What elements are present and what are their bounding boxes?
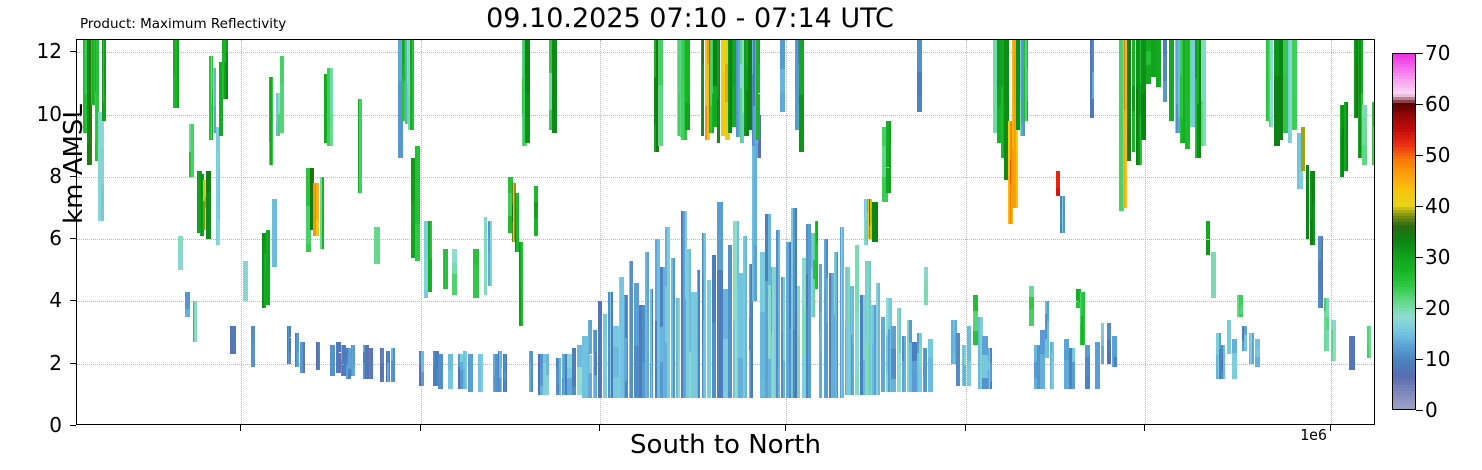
- reflectivity-column: [381, 363, 383, 378]
- plot-area: [76, 39, 1375, 425]
- reflectivity-column: [389, 351, 391, 382]
- reflectivity-column: [280, 56, 284, 84]
- reflectivity-column: [891, 349, 895, 379]
- colorbar-tick-mark-10: [1416, 359, 1423, 360]
- reflectivity-column: [525, 93, 529, 143]
- reflectivity-column: [904, 347, 906, 368]
- reflectivity-column: [1349, 336, 1355, 370]
- reflectivity-column: [330, 68, 333, 114]
- reflectivity-column: [1114, 346, 1116, 358]
- reflectivity-column: [438, 354, 443, 388]
- colorbar-tick-mark-20: [1416, 308, 1423, 309]
- reflectivity-column: [1299, 168, 1302, 190]
- reflectivity-column: [751, 352, 753, 398]
- reflectivity-column: [531, 384, 533, 392]
- reflectivity-column: [917, 94, 921, 111]
- reflectivity-column: [1244, 335, 1246, 347]
- reflectivity-column: [1252, 333, 1254, 364]
- reflectivity-column: [1101, 323, 1105, 337]
- reflectivity-column: [353, 364, 355, 376]
- reflectivity-column: [799, 95, 804, 152]
- reflectivity-column: [1085, 357, 1090, 375]
- reflectivity-column: [919, 333, 921, 346]
- reflectivity-column: [1127, 40, 1131, 84]
- reflectivity-column: [448, 370, 453, 377]
- reflectivity-column: [816, 221, 818, 244]
- reflectivity-column: [1114, 357, 1116, 366]
- reflectivity-column: [652, 359, 654, 398]
- reflectivity-column: [226, 40, 228, 53]
- reflectivity-column: [783, 308, 785, 361]
- reflectivity-column: [855, 376, 859, 395]
- x-axis-offset-label: 1e6: [1300, 427, 1380, 444]
- reflectivity-column: [226, 76, 228, 99]
- reflectivity-column: [728, 245, 732, 398]
- reflectivity-column: [1027, 68, 1029, 101]
- reflectivity-column: [1240, 295, 1242, 305]
- colorbar-band: [1393, 53, 1415, 55]
- colorbar-tick-label-20: 20: [1425, 298, 1450, 318]
- reflectivity-column: [430, 259, 432, 292]
- reflectivity-column: [195, 301, 197, 341]
- reflectivity-column: [421, 351, 424, 372]
- reflectivity-column: [924, 285, 928, 304]
- reflectivity-column: [712, 255, 716, 323]
- colorbar-axis: 010203040506070: [1416, 53, 1482, 410]
- y-tick-label-8: 8: [2, 166, 62, 186]
- reflectivity-column: [1306, 165, 1310, 240]
- reflectivity-column: [855, 313, 859, 376]
- reflectivity-column: [412, 40, 414, 130]
- reflectivity-column: [490, 221, 492, 239]
- reflectivity-column: [1085, 375, 1090, 388]
- reflectivity-column: [1255, 339, 1260, 349]
- reflectivity-column: [967, 326, 971, 360]
- reflectivity-column: [1064, 360, 1069, 388]
- reflectivity-column: [647, 353, 650, 398]
- reflectivity-column: [1056, 188, 1060, 196]
- reflectivity-column: [783, 361, 785, 398]
- reflectivity-column: [1107, 323, 1111, 340]
- reflectivity-column: [780, 69, 786, 93]
- reflectivity-column: [1313, 203, 1315, 245]
- reflectivity-column: [912, 361, 916, 373]
- reflectivity-column: [546, 354, 549, 374]
- reflectivity-column: [1146, 40, 1151, 51]
- colorbar-tick-label-30: 30: [1425, 247, 1450, 267]
- reflectivity-column: [990, 348, 992, 363]
- reflectivity-column: [178, 249, 183, 270]
- reflectivity-column: [1232, 339, 1237, 353]
- reflectivity-column: [678, 298, 680, 357]
- colorbar-tick-mark-40: [1416, 206, 1423, 207]
- colorbar-tick-mark-70: [1416, 53, 1423, 54]
- reflectivity-column: [1029, 297, 1034, 309]
- y-tick-label-6: 6: [2, 228, 62, 248]
- reflectivity-column: [1333, 320, 1336, 344]
- reflectivity-column: [881, 317, 885, 347]
- reflectivity-column: [1047, 301, 1049, 321]
- reflectivity-column: [521, 300, 523, 327]
- reflectivity-column: [1362, 105, 1367, 118]
- reflectivity-column: [330, 345, 335, 376]
- reflectivity-column: [490, 263, 492, 286]
- colorbar-tick-label-70: 70: [1425, 43, 1450, 63]
- reflectivity-column: [603, 337, 607, 354]
- reflectivity-column: [745, 236, 747, 398]
- colorbar: [1392, 53, 1416, 410]
- reflectivity-column: [206, 171, 210, 193]
- reflectivity-column: [552, 40, 556, 133]
- reflectivity-column: [754, 246, 756, 302]
- reflectivity-column: [1114, 336, 1116, 346]
- product-label: Product: Maximum Reflectivity: [80, 16, 286, 32]
- reflectivity-column: [572, 365, 577, 386]
- reflectivity-column: [1072, 362, 1075, 389]
- reflectivity-column: [1301, 127, 1305, 171]
- reflectivity-column: [1346, 102, 1348, 170]
- reflectivity-column: [191, 124, 194, 177]
- reflectivity-column: [924, 278, 928, 286]
- reflectivity-column: [723, 289, 728, 339]
- reflectivity-column: [226, 53, 228, 76]
- reflectivity-column: [1052, 342, 1054, 362]
- reflectivity-column: [678, 357, 680, 398]
- reflectivity-column: [531, 365, 533, 384]
- reflectivity-column: [1361, 40, 1363, 93]
- reflectivity-column: [778, 230, 780, 398]
- reflectivity-column: [634, 346, 639, 398]
- reflectivity-column: [381, 348, 383, 363]
- reflectivity-column: [1092, 40, 1094, 72]
- reflectivity-column: [891, 379, 895, 392]
- reflectivity-column: [1064, 339, 1069, 350]
- reflectivity-column: [1240, 305, 1242, 314]
- radar-cross-section-figure: 09.10.2025 07:10 - 07:14 UTC Product: Ma…: [0, 0, 1482, 470]
- reflectivity-column: [371, 364, 373, 379]
- reflectivity-column: [1127, 125, 1131, 161]
- reflectivity-column: [758, 65, 760, 93]
- reflectivity-column: [702, 64, 704, 87]
- reflectivity-column: [647, 316, 650, 353]
- reflectivity-column: [990, 363, 992, 382]
- reflectivity-column: [289, 353, 291, 363]
- reflectivity-column: [1141, 94, 1146, 139]
- reflectivity-column: [473, 249, 479, 265]
- reflectivity-column: [634, 283, 639, 347]
- reflectivity-columns: [77, 40, 1374, 424]
- colorbar-tick-mark-30: [1416, 257, 1423, 258]
- reflectivity-column: [516, 210, 518, 235]
- reflectivity-column: [1211, 252, 1216, 299]
- reflectivity-column: [589, 320, 591, 354]
- reflectivity-column: [589, 373, 591, 398]
- reflectivity-column: [365, 359, 368, 379]
- reflectivity-column: [799, 40, 804, 95]
- reflectivity-column: [594, 375, 596, 398]
- reflectivity-column: [928, 358, 933, 392]
- colorbar-tick-label-50: 50: [1425, 145, 1450, 165]
- reflectivity-column: [1369, 326, 1371, 357]
- reflectivity-column: [1362, 145, 1367, 164]
- reflectivity-column: [415, 146, 420, 224]
- reflectivity-column: [1101, 346, 1105, 364]
- reflectivity-column: [1326, 330, 1329, 352]
- reflectivity-column: [1146, 65, 1151, 84]
- reflectivity-column: [381, 378, 383, 383]
- reflectivity-column: [797, 286, 801, 338]
- reflectivity-column: [707, 351, 711, 398]
- reflectivity-column: [448, 354, 453, 369]
- reflectivity-column: [365, 345, 368, 359]
- reflectivity-column: [371, 348, 373, 364]
- reflectivity-column: [501, 351, 503, 367]
- reflectivity-column: [303, 342, 306, 373]
- reflectivity-column: [917, 40, 921, 72]
- reflectivity-column: [218, 219, 220, 246]
- reflectivity-column: [465, 351, 467, 388]
- reflectivity-column: [316, 219, 318, 236]
- reflectivity-column: [1132, 111, 1136, 152]
- reflectivity-column: [214, 85, 216, 106]
- reflectivity-column: [891, 326, 895, 348]
- reflectivity-column: [1029, 309, 1034, 327]
- reflectivity-column: [468, 354, 473, 391]
- reflectivity-column: [319, 342, 321, 370]
- reflectivity-column: [330, 114, 333, 146]
- reflectivity-column: [881, 347, 885, 392]
- reflectivity-column: [490, 239, 492, 263]
- reflectivity-column: [1255, 357, 1260, 367]
- reflectivity-column: [359, 99, 361, 192]
- reflectivity-column: [1101, 337, 1105, 346]
- reflectivity-column: [712, 322, 716, 398]
- reflectivity-column: [1362, 118, 1367, 145]
- reflectivity-column: [1027, 101, 1029, 121]
- reflectivity-column: [904, 336, 906, 347]
- reflectivity-column: [501, 377, 503, 392]
- reflectivity-column: [758, 40, 760, 65]
- reflectivity-column: [1163, 55, 1167, 81]
- reflectivity-column: [647, 252, 650, 316]
- reflectivity-column: [1169, 86, 1173, 121]
- reflectivity-column: [1064, 350, 1069, 361]
- reflectivity-column: [289, 338, 291, 354]
- reflectivity-column: [1029, 286, 1034, 297]
- reflectivity-column: [928, 339, 933, 358]
- reflectivity-column: [594, 330, 596, 352]
- reflectivity-column: [266, 230, 270, 305]
- reflectivity-column: [1326, 298, 1329, 317]
- reflectivity-column: [452, 249, 456, 264]
- y-tick-mark-12: [70, 51, 76, 52]
- reflectivity-column: [912, 342, 916, 361]
- reflectivity-column: [1206, 240, 1210, 255]
- reflectivity-column: [909, 320, 912, 343]
- reflectivity-column: [1146, 51, 1151, 65]
- reflectivity-column: [1232, 353, 1237, 379]
- reflectivity-column: [251, 343, 255, 367]
- reflectivity-column: [917, 72, 921, 95]
- colorbar-tick-label-0: 0: [1425, 400, 1438, 420]
- reflectivity-column: [297, 333, 299, 351]
- reflectivity-column: [783, 277, 785, 308]
- reflectivity-column: [707, 280, 711, 352]
- reflectivity-column: [924, 267, 928, 278]
- reflectivity-column: [374, 227, 379, 264]
- y-tick-label-2: 2: [2, 353, 62, 373]
- reflectivity-column: [1244, 326, 1246, 335]
- reflectivity-column: [658, 40, 663, 85]
- reflectivity-column: [473, 265, 479, 299]
- reflectivity-column: [104, 94, 106, 121]
- reflectivity-column: [452, 274, 456, 296]
- reflectivity-column: [1255, 349, 1260, 357]
- reflectivity-column: [685, 40, 690, 103]
- reflectivity-column: [658, 85, 663, 146]
- reflectivity-column: [816, 244, 818, 265]
- reflectivity-column: [973, 295, 978, 311]
- reflectivity-column: [534, 218, 538, 236]
- reflectivity-column: [652, 315, 654, 359]
- reflectivity-column: [780, 93, 786, 112]
- reflectivity-column: [820, 264, 822, 311]
- reflectivity-column: [751, 294, 753, 352]
- reflectivity-column: [1127, 84, 1131, 125]
- reflectivity-column: [289, 326, 291, 337]
- reflectivity-column: [185, 309, 190, 317]
- reflectivity-column: [924, 348, 926, 392]
- reflectivity-column: [1132, 86, 1136, 111]
- reflectivity-column: [1092, 72, 1094, 99]
- y-tick-label-12: 12: [2, 41, 62, 61]
- reflectivity-column: [443, 249, 448, 270]
- reflectivity-column: [96, 40, 98, 95]
- reflectivity-column: [501, 367, 503, 377]
- reflectivity-column: [1107, 353, 1111, 364]
- reflectivity-column: [967, 361, 971, 386]
- reflectivity-column: [233, 341, 236, 354]
- reflectivity-column: [1203, 40, 1206, 146]
- reflectivity-column: [534, 202, 538, 218]
- reflectivity-column: [1083, 292, 1085, 345]
- reflectivity-column: [1244, 347, 1246, 352]
- reflectivity-column: [852, 343, 854, 395]
- reflectivity-column: [185, 292, 190, 309]
- reflectivity-column: [272, 77, 274, 164]
- reflectivity-column: [603, 353, 607, 398]
- reflectivity-column: [704, 233, 706, 398]
- reflectivity-column: [1169, 40, 1173, 86]
- reflectivity-column: [820, 351, 822, 398]
- reflectivity-column: [572, 386, 577, 395]
- reflectivity-column: [702, 40, 704, 64]
- reflectivity-column: [322, 177, 324, 249]
- reflectivity-column: [820, 311, 822, 351]
- reflectivity-column: [717, 202, 722, 270]
- colorbar-tick-mark-50: [1416, 155, 1423, 156]
- y-tick-label-0: 0: [2, 415, 62, 435]
- reflectivity-column: [698, 270, 700, 398]
- reflectivity-column: [306, 244, 311, 252]
- reflectivity-column: [1321, 236, 1323, 308]
- reflectivity-column: [797, 338, 801, 398]
- reflectivity-column: [525, 40, 529, 93]
- reflectivity-column: [1333, 344, 1336, 361]
- reflectivity-column: [904, 368, 906, 392]
- reflectivity-column: [1132, 40, 1136, 86]
- reflectivity-column: [685, 103, 690, 131]
- reflectivity-column: [316, 200, 318, 219]
- reflectivity-column: [534, 186, 538, 202]
- reflectivity-column: [990, 382, 992, 389]
- reflectivity-column: [956, 333, 960, 386]
- reflectivity-column: [603, 314, 607, 337]
- reflectivity-column: [1027, 40, 1029, 68]
- reflectivity-column: [889, 121, 892, 193]
- reflectivity-column: [531, 351, 533, 365]
- reflectivity-column: [1063, 196, 1065, 233]
- reflectivity-column: [1206, 221, 1210, 240]
- reflectivity-column: [297, 351, 299, 367]
- colorbar-tick-label-60: 60: [1425, 94, 1450, 114]
- reflectivity-column: [421, 372, 424, 385]
- reflectivity-column: [521, 242, 523, 299]
- reflectivity-column: [1227, 320, 1232, 354]
- reflectivity-column: [177, 40, 179, 108]
- reflectivity-column: [1092, 99, 1094, 117]
- reflectivity-column: [251, 326, 255, 342]
- reflectivity-column: [1047, 321, 1049, 357]
- reflectivity-column: [1292, 40, 1297, 130]
- reflectivity-column: [214, 68, 216, 84]
- reflectivity-column: [631, 261, 633, 398]
- reflectivity-column: [516, 193, 518, 210]
- reflectivity-column: [506, 354, 508, 391]
- reflectivity-column: [415, 224, 420, 261]
- reflectivity-column: [1313, 171, 1315, 204]
- reflectivity-column: [1056, 171, 1060, 188]
- reflectivity-column: [1085, 345, 1090, 357]
- reflectivity-column: [758, 94, 760, 140]
- reflectivity-column: [443, 270, 448, 289]
- reflectivity-column: [1072, 348, 1075, 361]
- y-tick-label-4: 4: [2, 290, 62, 310]
- reflectivity-column: [667, 227, 669, 398]
- reflectivity-column: [1107, 340, 1111, 353]
- reflectivity-column: [1151, 40, 1156, 77]
- colorbar-tick-label-40: 40: [1425, 196, 1450, 216]
- reflectivity-column: [912, 373, 916, 392]
- colorbar-tick-mark-60: [1416, 104, 1423, 105]
- reflectivity-column: [1223, 345, 1225, 379]
- reflectivity-column: [1040, 354, 1045, 388]
- reflectivity-column: [1052, 361, 1054, 388]
- reflectivity-column: [316, 183, 318, 200]
- reflectivity-column: [393, 348, 395, 382]
- reflectivity-column: [1326, 317, 1329, 330]
- reflectivity-column: [837, 252, 839, 398]
- reflectivity-column: [1016, 149, 1018, 208]
- reflectivity-column: [572, 348, 577, 365]
- reflectivity-column: [652, 289, 654, 315]
- reflectivity-column: [872, 202, 878, 242]
- reflectivity-column: [919, 368, 921, 392]
- reflectivity-column: [855, 245, 859, 312]
- reflectivity-column: [546, 375, 549, 395]
- reflectivity-column: [589, 355, 591, 373]
- colorbar-tick-label-10: 10: [1425, 349, 1450, 369]
